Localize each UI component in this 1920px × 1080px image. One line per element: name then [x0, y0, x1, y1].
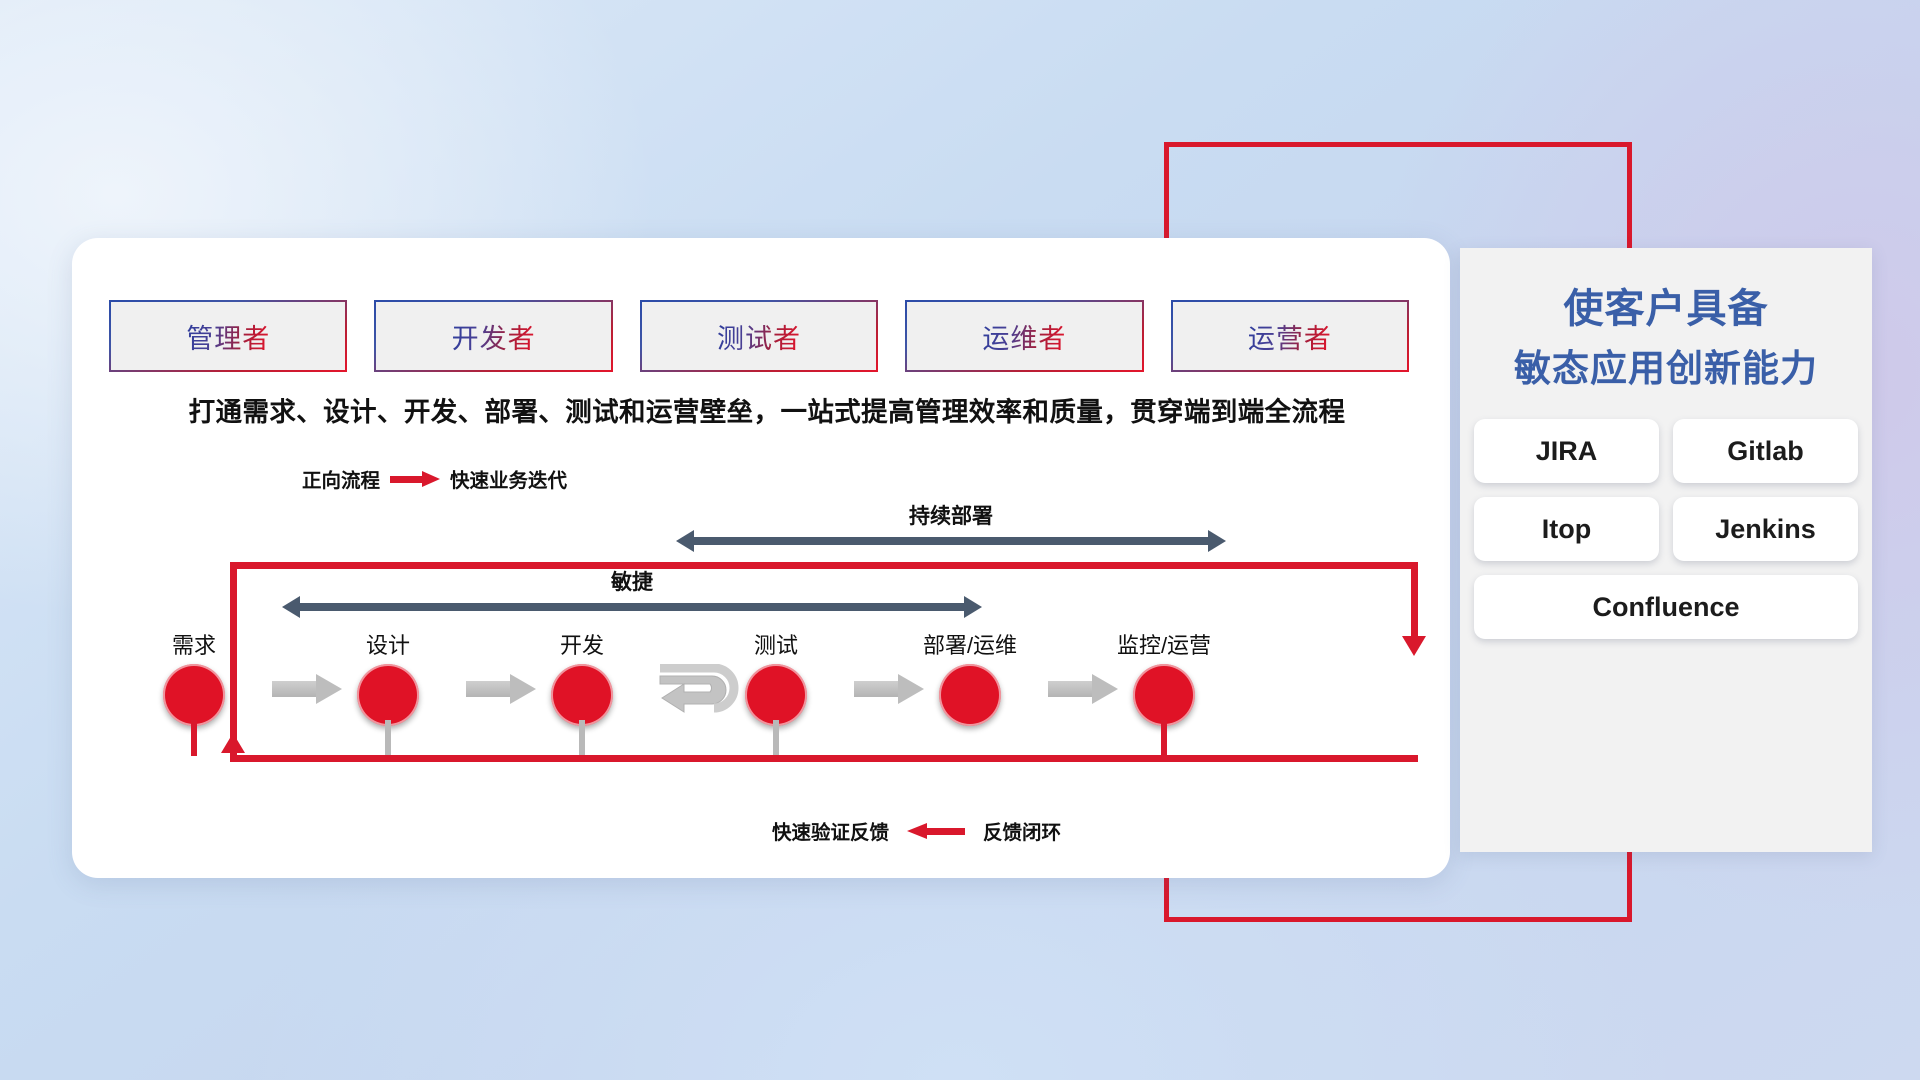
stage-dot-icon — [163, 664, 225, 726]
loop-line-left — [230, 562, 237, 762]
role-box-tester[interactable]: 测试者 — [640, 300, 878, 372]
stage-dot-icon — [551, 664, 613, 726]
stage-stem — [1161, 720, 1167, 756]
stage-label: 开发 — [522, 628, 642, 660]
stage-label: 部署/运维 — [910, 628, 1030, 660]
role-boxes-row: 管理者 开发者 测试者 运维者 运营者 — [109, 300, 1409, 372]
loop-line-right — [1411, 562, 1418, 641]
stage-stem — [579, 720, 585, 756]
description-text: 打通需求、设计、开发、部署、测试和运营壁垒，一站式提高管理效率和质量，贯穿端到端… — [112, 390, 1422, 429]
stage-dot-icon — [1133, 664, 1195, 726]
pipeline-stage-testing[interactable]: 测试 — [716, 628, 836, 726]
band-label: 持续部署 — [676, 500, 1226, 530]
stage-stem — [191, 720, 197, 756]
band-label: 敏捷 — [282, 566, 982, 596]
tool-chip-confluence[interactable]: Confluence — [1474, 575, 1858, 639]
role-label: 测试者 — [717, 317, 801, 356]
pipeline-stage-deploy-ops[interactable]: 部署/运维 — [910, 628, 1030, 726]
loop-arrow-up-icon — [221, 733, 245, 753]
role-box-manager[interactable]: 管理者 — [109, 300, 347, 372]
role-label: 运营者 — [1248, 317, 1332, 356]
stage-label: 测试 — [716, 628, 836, 660]
role-label: 开发者 — [452, 317, 536, 356]
arrow-right-red-icon — [390, 471, 440, 487]
role-label: 运维者 — [982, 317, 1066, 356]
stage-label: 设计 — [328, 628, 448, 660]
loop-arrow-down-icon — [1402, 636, 1426, 656]
stage-dot-icon — [939, 664, 1001, 726]
role-box-operations[interactable]: 运营者 — [1171, 300, 1409, 372]
side-panel-title-line2: 敏态应用创新能力 — [1460, 340, 1872, 397]
side-panel-title-line1: 使客户具备 — [1460, 278, 1872, 340]
stage-stem — [385, 720, 391, 756]
arrow-shaft — [298, 603, 966, 611]
loop-line-bottom — [230, 755, 1418, 762]
pipeline-stage-monitor-operations[interactable]: 监控/运营 — [1104, 628, 1224, 726]
tool-chip-itop[interactable]: Itop — [1474, 497, 1659, 561]
side-panel-title: 使客户具备 敏态应用创新能力 — [1460, 278, 1872, 397]
legend-forward-right-label: 快速业务迭代 — [450, 464, 567, 493]
legend-feedback-right-label: 反馈闭环 — [983, 816, 1061, 845]
arrow-head-right-icon — [1208, 530, 1226, 552]
pipeline-stage-design[interactable]: 设计 — [328, 628, 448, 726]
double-arrow-icon — [282, 596, 982, 618]
pipeline-stage-development[interactable]: 开发 — [522, 628, 642, 726]
arrow-shaft — [466, 681, 512, 697]
tool-chip-jenkins[interactable]: Jenkins — [1673, 497, 1858, 561]
arrow-shaft — [692, 537, 1210, 545]
capability-side-panel: 使客户具备 敏态应用创新能力 JIRA Gitlab Itop Jenkins … — [1460, 248, 1872, 852]
role-box-developer[interactable]: 开发者 — [374, 300, 612, 372]
double-arrow-icon — [676, 530, 1226, 552]
legend-forward-left-label: 正向流程 — [302, 464, 380, 493]
stage-label: 监控/运营 — [1104, 628, 1224, 660]
legend-forward-flow: 正向流程 快速业务迭代 — [302, 464, 567, 493]
band-agile: 敏捷 — [282, 596, 982, 618]
arrow-left-red-icon — [907, 823, 965, 839]
tools-grid: JIRA Gitlab Itop Jenkins Confluence — [1474, 419, 1858, 639]
arrow-shaft — [1048, 681, 1094, 697]
legend-feedback-loop: 快速验证反馈 反馈闭环 — [772, 816, 1061, 845]
pipeline: 需求 设计 开发 测试 — [112, 628, 1412, 758]
tool-chip-jira[interactable]: JIRA — [1474, 419, 1659, 483]
legend-feedback-left-label: 快速验证反馈 — [772, 816, 889, 845]
loop-line-top — [230, 562, 1418, 569]
stage-stem — [773, 720, 779, 756]
arrow-head-right-icon — [964, 596, 982, 618]
band-continuous-deployment: 持续部署 — [676, 530, 1226, 552]
stage-dot-icon — [357, 664, 419, 726]
role-box-ops[interactable]: 运维者 — [905, 300, 1143, 372]
arrow-shaft — [854, 681, 900, 697]
role-label: 管理者 — [186, 317, 270, 356]
stage-dot-icon — [745, 664, 807, 726]
main-content-card: 管理者 开发者 测试者 运维者 运营者 打通需求、设计、开发、部署、测试和运营壁… — [72, 238, 1450, 878]
tool-chip-gitlab[interactable]: Gitlab — [1673, 419, 1858, 483]
arrow-shaft — [272, 681, 318, 697]
